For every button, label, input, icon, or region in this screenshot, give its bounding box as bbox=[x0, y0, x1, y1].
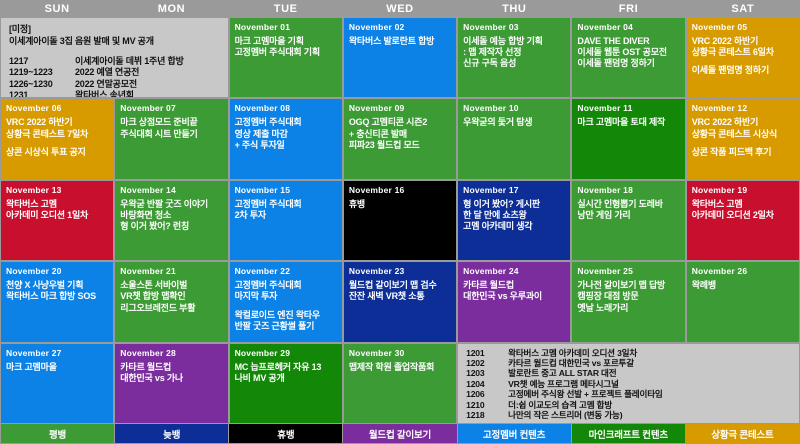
notes-row-code: 1219~1223 bbox=[9, 67, 75, 78]
upcoming-schedule-text: VR챗 예능 프로그램 메타시그널 bbox=[508, 379, 619, 389]
upcoming-schedule-code: 1201 bbox=[466, 348, 508, 358]
day-event-list: 카타르 월드컵대한민국 vs 우루과이 bbox=[463, 280, 566, 302]
day-date-label: November 17 bbox=[463, 185, 566, 195]
day-date-label: November 16 bbox=[349, 185, 452, 195]
weekday-label-sun: SUN bbox=[0, 0, 114, 18]
day-event-line: 아카데미 오디션 1일차 bbox=[6, 210, 109, 221]
day-date-label: November 28 bbox=[120, 348, 223, 358]
day-event-line: OGQ 고멤티콘 시즌2 bbox=[349, 117, 452, 128]
notes-subtitle: 이세계아이돌 3집 음원 발매 및 MV 공개 bbox=[9, 36, 220, 48]
day-event-line: 이세돌 예능 합방 기획 bbox=[463, 36, 566, 47]
day-event-line: 상황극 콘테스트 시상식 bbox=[692, 129, 795, 140]
calendar-day-cell[interactable]: November 07마크 상점모드 준비끝주식대회 시트 만들기 bbox=[115, 99, 227, 178]
day-event-list: OGQ 고멤티콘 시즌2+ 충신티콘 발매피파23 월드컵 모드 bbox=[349, 117, 452, 151]
category-legend-item[interactable]: 늦뱅 bbox=[115, 424, 228, 443]
day-event-line: 고정멤버 주식대회 bbox=[235, 280, 338, 291]
calendar-weeks: [미정]이세계아이돌 3집 음원 발매 및 MV 공개1217이세계아이돌 데뷔… bbox=[0, 18, 800, 424]
day-event-list: 카타르 월드컵대한민국 vs 가나 bbox=[120, 362, 223, 384]
category-legend-item[interactable]: 고정멤버 컨텐츠 bbox=[458, 424, 571, 443]
day-event-line: 이세돌 웹툰 OST 공모전 bbox=[577, 47, 680, 58]
weekday-label-wed: WED bbox=[343, 0, 457, 18]
day-event-list: 우왁굳 반팔 굿즈 이야기바탕화면 청소형 이거 봤어? 런칭 bbox=[120, 199, 223, 233]
day-event-line: 마지막 투자 bbox=[235, 291, 338, 302]
notes-row: 1226~12302022 연말공모전 bbox=[9, 79, 220, 90]
day-event-list: 고정멤버 주식대회영상 제출 마감+ 주식 투자일 bbox=[235, 117, 338, 151]
weekday-header-row: SUNMONTUEWEDTHUFRISAT bbox=[0, 0, 800, 18]
day-event-line: 마크 고멤마을 bbox=[6, 362, 109, 373]
day-date-label: November 26 bbox=[692, 266, 795, 276]
day-date-label: November 03 bbox=[463, 22, 566, 32]
day-event-line: 상콘 시상식 투표 공지 bbox=[6, 147, 109, 158]
upcoming-schedule-row: 1201왁타버스 고멤 아카데미 오디션 3일차 bbox=[466, 348, 793, 358]
calendar-week-row: [미정]이세계아이돌 3집 음원 발매 및 MV 공개1217이세계아이돌 데뷔… bbox=[1, 18, 799, 97]
day-event-line: VRC 2022 하반기 bbox=[6, 117, 109, 128]
day-event-line: 영상 제출 마감 bbox=[235, 129, 338, 140]
day-event-line: 상황극 콘테스트 7일차 bbox=[6, 129, 109, 140]
day-event-line: 왁컬로이드 엔진 왁타우 bbox=[235, 310, 338, 321]
calendar-day-cell[interactable]: November 02왁타버스 발로란트 합방 bbox=[344, 18, 456, 97]
day-date-label: November 21 bbox=[120, 266, 223, 276]
day-date-label: November 09 bbox=[349, 103, 452, 113]
day-event-list: 마크 상점모드 준비끝주식대회 시트 만들기 bbox=[120, 117, 223, 139]
day-date-label: November 04 bbox=[577, 22, 680, 32]
day-event-line: 대한민국 vs 우루과이 bbox=[463, 291, 566, 302]
day-event-list: 가나전 같이보기 맵 답방캠핑장 대점 방문옛날 노래가리 bbox=[577, 280, 680, 314]
day-event-line: 휴뱅 bbox=[349, 199, 452, 210]
day-date-label: November 14 bbox=[120, 185, 223, 195]
notes-row-text: 2022 예열 연공전 bbox=[75, 67, 139, 78]
day-event-line: 왁타버스 고멤 bbox=[6, 199, 109, 210]
day-event-line: 2차 투자 bbox=[235, 210, 338, 221]
day-event-line: 아카데미 오디션 2일차 bbox=[692, 210, 795, 221]
day-event-list: 월드컵 같이보기 맵 검수잔잔 새벽 VR챗 소통 bbox=[349, 280, 452, 302]
day-date-label: November 30 bbox=[349, 348, 452, 358]
calendar-week-row: November 27마크 고멤마을November 28카타르 월드컵대한민국… bbox=[1, 344, 799, 423]
category-legend-item[interactable]: 마인크래프트 컨텐츠 bbox=[572, 424, 685, 443]
calendar-day-cell[interactable]: November 12VRC 2022 하반기상황극 콘테스트 시상식상콘 작품… bbox=[687, 99, 799, 178]
upcoming-schedule-text: 발로란트 중고 ALL STAR 대전 bbox=[508, 368, 616, 378]
weekday-label-thu: THU bbox=[457, 0, 571, 18]
day-event-line: + 충신티콘 발매 bbox=[349, 129, 452, 140]
day-event-line: 피파23 월드컵 모드 bbox=[349, 140, 452, 151]
calendar-day-cell[interactable]: November 21소울스톤 서바이벌VR챗 합방 맵확인리그오브레전드 부활 bbox=[115, 262, 227, 341]
day-date-label: November 02 bbox=[349, 22, 452, 32]
day-event-line: 왁례뱅 bbox=[692, 280, 795, 291]
day-event-line: 실시간 인형뽑기 도레바 bbox=[577, 199, 680, 210]
day-date-label: November 06 bbox=[6, 103, 109, 113]
day-event-list: 고정멤버 주식대회마지막 투자왁컬로이드 엔진 왁타우반팔 굿즈 근황썰 풀기 bbox=[235, 280, 338, 332]
day-date-label: November 19 bbox=[692, 185, 795, 195]
day-event-list: 마크 고멤마을 bbox=[6, 362, 109, 373]
day-date-label: November 07 bbox=[120, 103, 223, 113]
upcoming-schedule-row: 1210더:쉽 이교도의 습격 고멤 합방 bbox=[466, 400, 793, 410]
calendar-day-cell[interactable]: November 10우왁굳의 둧거 탐생 bbox=[458, 99, 570, 178]
day-event-list: 마크 고멤마을 기획고정멤버 주식대회 기획 bbox=[235, 36, 338, 58]
day-event-line: 대한민국 vs 가나 bbox=[120, 373, 223, 384]
day-event-list: 왁타버스 고멤아카데미 오디션 1일차 bbox=[6, 199, 109, 221]
day-event-line: 카타르 월드컵 bbox=[120, 362, 223, 373]
calendar-day-cell[interactable]: November 13왁타버스 고멤아카데미 오디션 1일차 bbox=[1, 181, 113, 260]
day-event-list: 형 이거 봤어? 게시판한 달 만에 쇼츠왕고멤 아카데미 생각 bbox=[463, 199, 566, 233]
calendar-day-cell[interactable]: November 01마크 고멤마을 기획고정멤버 주식대회 기획 bbox=[230, 18, 342, 97]
calendar-day-cell[interactable]: November 25가나전 같이보기 맵 답방캠핑장 대점 방문옛날 노래가리 bbox=[572, 262, 684, 341]
day-event-list: VRC 2022 하반기상황극 콘테스트 7일차상콘 시상식 투표 공지 bbox=[6, 117, 109, 158]
day-date-label: November 20 bbox=[6, 266, 109, 276]
day-event-line: + 주식 투자일 bbox=[235, 140, 338, 151]
category-legend-item[interactable]: 휴뱅 bbox=[229, 424, 342, 443]
notes-row-code: 1217 bbox=[9, 56, 75, 67]
notes-row-text: 2022 연말공모전 bbox=[75, 79, 137, 90]
day-event-line: 우왁굳 반팔 굿즈 이야기 bbox=[120, 199, 223, 210]
upcoming-schedule-text: 더:쉽 이교도의 습격 고멤 합방 bbox=[508, 400, 612, 410]
notes-title: [미정] bbox=[9, 24, 220, 36]
day-event-line: 가나전 같이보기 맵 답방 bbox=[577, 280, 680, 291]
day-event-list: DAVE THE DIVER이세돌 웹툰 OST 공모전이세돌 팬덤명 정하기 bbox=[577, 36, 680, 70]
calendar-day-cell[interactable]: November 26왁례뱅 bbox=[687, 262, 799, 341]
upcoming-schedule-code: 1204 bbox=[466, 379, 508, 389]
day-event-line: DAVE THE DIVER bbox=[577, 36, 680, 47]
weekday-label-tue: TUE bbox=[229, 0, 343, 18]
calendar-day-cell[interactable]: November 15고정멤버 주식대회2차 투자 bbox=[230, 181, 342, 260]
notes-row-text: 이세계아이돌 데뷔 1주년 합방 bbox=[75, 56, 184, 67]
notes-row-text: 왁타버스 송년회 bbox=[75, 90, 134, 97]
category-legend-item[interactable]: 월드컵 같이보기 bbox=[343, 424, 456, 443]
day-event-list: 왁타버스 고멤아카데미 오디션 2일차 bbox=[692, 199, 795, 221]
day-event-list: 우왁굳의 둧거 탐생 bbox=[463, 117, 566, 128]
upcoming-schedule-code: 1202 bbox=[466, 358, 508, 368]
day-event-line: VR챗 합방 맵확인 bbox=[120, 291, 223, 302]
upcoming-schedule-row: 1203발로란트 중고 ALL STAR 대전 bbox=[466, 368, 793, 378]
calendar-day-cell[interactable]: November 09OGQ 고멤티콘 시즌2+ 충신티콘 발매피파23 월드컵… bbox=[344, 99, 456, 178]
notes-row-code: 1231 bbox=[9, 90, 75, 97]
day-event-list: 고정멤버 주식대회2차 투자 bbox=[235, 199, 338, 221]
upcoming-schedule-panel: 1201왁타버스 고멤 아카데미 오디션 3일차1202카타르 월드컵 대한민국… bbox=[458, 344, 799, 423]
calendar-week-row: November 20천양 X 사냥우벌 기획왁타버스 마크 합방 SOSNov… bbox=[1, 262, 799, 341]
day-date-label: November 22 bbox=[235, 266, 338, 276]
calendar-day-cell[interactable]: November 14우왁굳 반팔 굿즈 이야기바탕화면 청소형 이거 봤어? … bbox=[115, 181, 227, 260]
calendar-day-cell[interactable]: November 23월드컵 같이보기 맵 검수잔잔 새벽 VR챗 소통 bbox=[344, 262, 456, 341]
day-event-list: 소울스톤 서바이벌VR챗 합방 맵확인리그오브레전드 부활 bbox=[120, 280, 223, 314]
day-event-line: 상황극 콘테스트 6일차 bbox=[692, 47, 795, 58]
day-event-line: 바탕화면 청소 bbox=[120, 210, 223, 221]
upcoming-schedule-row: 1204VR챗 예능 프로그램 메타시그널 bbox=[466, 379, 793, 389]
day-date-label: November 05 bbox=[692, 22, 795, 32]
calendar-day-cell[interactable]: November 28카타르 월드컵대한민국 vs 가나 bbox=[115, 344, 227, 423]
day-event-list: 천양 X 사냥우벌 기획왁타버스 마크 합방 SOS bbox=[6, 280, 109, 302]
day-event-line: 왁타버스 마크 합방 SOS bbox=[6, 291, 109, 302]
day-event-list: VRC 2022 하반기상황극 콘테스트 시상식상콘 작품 피드백 후기 bbox=[692, 117, 795, 158]
calendar-day-cell[interactable]: November 20천양 X 사냥우벌 기획왁타버스 마크 합방 SOS bbox=[1, 262, 113, 341]
calendar-day-cell[interactable]: November 30맵제작 학원 졸업작품회 bbox=[344, 344, 456, 423]
calendar-day-cell[interactable]: November 04DAVE THE DIVER이세돌 웹툰 OST 공모전이… bbox=[572, 18, 684, 97]
day-event-list: 왁례뱅 bbox=[692, 280, 795, 291]
upcoming-schedule-code: 1203 bbox=[466, 368, 508, 378]
day-date-label: November 25 bbox=[577, 266, 680, 276]
calendar-week-row: November 13왁타버스 고멤아카데미 오디션 1일차November 1… bbox=[1, 181, 799, 260]
day-event-list: 마크 고멤마을 토대 제작 bbox=[577, 117, 680, 128]
day-event-line: VRC 2022 하반기 bbox=[692, 36, 795, 47]
day-event-line: 고정멤버 주식대회 bbox=[235, 117, 338, 128]
day-event-line: 신규 구독 음성 bbox=[463, 58, 566, 69]
day-event-list: MC 늡프로헤커 자유 13나비 MV 공개 bbox=[235, 362, 338, 384]
day-date-label: November 12 bbox=[692, 103, 795, 113]
day-event-line: 낭만 게임 가리 bbox=[577, 210, 680, 221]
day-event-line: 캠핑장 대점 방문 bbox=[577, 291, 680, 302]
day-date-label: November 01 bbox=[235, 22, 338, 32]
day-event-line: 고멤 아카데미 생각 bbox=[463, 221, 566, 232]
category-legend-item[interactable]: 상황극 콘테스트 bbox=[686, 424, 799, 443]
upcoming-schedule-code: 1218 bbox=[466, 410, 508, 420]
day-event-line: 카타르 월드컵 bbox=[463, 280, 566, 291]
day-date-label: November 13 bbox=[6, 185, 109, 195]
day-event-line: 왁타버스 발로란트 합방 bbox=[349, 36, 452, 47]
monthly-schedule-calendar: SUNMONTUEWEDTHUFRISAT [미정]이세계아이돌 3집 음원 발… bbox=[0, 0, 800, 444]
day-date-label: November 10 bbox=[463, 103, 566, 113]
day-date-label: November 23 bbox=[349, 266, 452, 276]
day-event-line: 형 이거 봤어? 게시판 bbox=[463, 199, 566, 210]
calendar-day-cell[interactable]: November 29MC 늡프로헤커 자유 13나비 MV 공개 bbox=[230, 344, 342, 423]
notes-row: 1217이세계아이돌 데뷔 1주년 합방 bbox=[9, 56, 220, 67]
day-event-line: 이세돌 팬덤명 정하기 bbox=[577, 58, 680, 69]
category-legend-bar: 평뱅늦뱅휴뱅월드컵 같이보기고정멤버 컨텐츠마인크래프트 컨텐츠상황극 콘테스트 bbox=[0, 424, 800, 444]
day-date-label: November 11 bbox=[577, 103, 680, 113]
day-date-label: November 27 bbox=[6, 348, 109, 358]
calendar-day-cell[interactable]: November 19왁타버스 고멤아카데미 오디션 2일차 bbox=[687, 181, 799, 260]
calendar-day-cell[interactable]: November 03이세돌 예능 합방 기획: 맵 제작자 선정신규 구독 음… bbox=[458, 18, 570, 97]
day-event-list: 왁타버스 발로란트 합방 bbox=[349, 36, 452, 47]
upcoming-schedule-text: 고정메버 주식왕 선발 + 프로젝트 플레이타임 bbox=[508, 389, 662, 399]
day-event-line: MC 늡프로헤커 자유 13 bbox=[235, 362, 338, 373]
calendar-day-cell[interactable]: November 18실시간 인형뽑기 도레바낭만 게임 가리 bbox=[572, 181, 684, 260]
day-date-label: November 08 bbox=[235, 103, 338, 113]
calendar-day-cell[interactable]: November 06VRC 2022 하반기상황극 콘테스트 7일차상콘 시상… bbox=[1, 99, 113, 178]
day-date-label: November 18 bbox=[577, 185, 680, 195]
category-legend-item[interactable]: 평뱅 bbox=[1, 424, 114, 443]
day-event-list: 휴뱅 bbox=[349, 199, 452, 210]
day-event-line: 반팔 굿즈 근황썰 풀기 bbox=[235, 321, 338, 332]
upcoming-schedule-text: 카타르 월드컵 대한민국 vs 포르투갈 bbox=[508, 358, 634, 368]
day-event-list: 맵제작 학원 졸업작품회 bbox=[349, 362, 452, 373]
day-event-line: 월드컵 같이보기 맵 검수 bbox=[349, 280, 452, 291]
day-event-line: 나비 MV 공개 bbox=[235, 373, 338, 384]
day-event-line: 천양 X 사냥우벌 기획 bbox=[6, 280, 109, 291]
calendar-day-cell[interactable]: November 27마크 고멤마을 bbox=[1, 344, 113, 423]
notes-schedule-table: 1217이세계아이돌 데뷔 1주년 합방1219~12232022 예열 연공전… bbox=[9, 56, 220, 97]
day-event-line: 이세돌 팬덤명 정하기 bbox=[692, 65, 795, 76]
day-event-line: 왁타버스 고멤 bbox=[692, 199, 795, 210]
notes-row: 1231왁타버스 송년회 bbox=[9, 90, 220, 97]
day-event-line: 한 달 만에 쇼츠왕 bbox=[463, 210, 566, 221]
day-date-label: November 24 bbox=[463, 266, 566, 276]
pending-notes-panel: [미정]이세계아이돌 3집 음원 발매 및 MV 공개1217이세계아이돌 데뷔… bbox=[1, 18, 228, 97]
upcoming-schedule-row: 1202카타르 월드컵 대한민국 vs 포르투갈 bbox=[466, 358, 793, 368]
notes-row-code: 1226~1230 bbox=[9, 79, 75, 90]
calendar-day-cell[interactable]: November 16휴뱅 bbox=[344, 181, 456, 260]
day-event-line: VRC 2022 하반기 bbox=[692, 117, 795, 128]
calendar-day-cell[interactable]: November 24카타르 월드컵대한민국 vs 우루과이 bbox=[458, 262, 570, 341]
day-event-line: 옛날 노래가리 bbox=[577, 303, 680, 314]
day-event-line: 소울스톤 서바이벌 bbox=[120, 280, 223, 291]
notes-row: 1219~12232022 예열 연공전 bbox=[9, 67, 220, 78]
day-event-line: 우왁굳의 둧거 탐생 bbox=[463, 117, 566, 128]
day-event-line: 리그오브레전드 부활 bbox=[120, 303, 223, 314]
upcoming-schedule-row: 1206고정메버 주식왕 선발 + 프로젝트 플레이타임 bbox=[466, 389, 793, 399]
day-date-label: November 15 bbox=[235, 185, 338, 195]
day-event-line: 마크 상점모드 준비끝 bbox=[120, 117, 223, 128]
upcoming-schedule-text: 나만의 작은 스트리머 (변동 가능) bbox=[508, 410, 622, 420]
day-event-list: 이세돌 예능 합방 기획: 맵 제작자 선정신규 구독 음성 bbox=[463, 36, 566, 70]
day-event-line: 고정멤버 주식대회 기획 bbox=[235, 47, 338, 58]
weekday-label-fri: FRI bbox=[571, 0, 685, 18]
upcoming-schedule-row: 1218나만의 작은 스트리머 (변동 가능) bbox=[466, 410, 793, 420]
calendar-week-row: November 06VRC 2022 하반기상황극 콘테스트 7일차상콘 시상… bbox=[1, 99, 799, 178]
calendar-day-cell[interactable]: November 22고정멤버 주식대회마지막 투자왁컬로이드 엔진 왁타우반팔… bbox=[230, 262, 342, 341]
day-event-line: 상콘 작품 피드백 후기 bbox=[692, 147, 795, 158]
calendar-day-cell[interactable]: November 11마크 고멤마을 토대 제작 bbox=[572, 99, 684, 178]
day-date-label: November 29 bbox=[235, 348, 338, 358]
calendar-day-cell[interactable]: November 05VRC 2022 하반기상황극 콘테스트 6일차이세돌 팬… bbox=[687, 18, 799, 97]
day-event-line: 주식대회 시트 만들기 bbox=[120, 129, 223, 140]
day-event-list: 실시간 인형뽑기 도레바낭만 게임 가리 bbox=[577, 199, 680, 221]
weekday-label-mon: MON bbox=[114, 0, 228, 18]
day-event-line: 마크 고멤마을 토대 제작 bbox=[577, 117, 680, 128]
day-event-line: 마크 고멤마을 기획 bbox=[235, 36, 338, 47]
upcoming-schedule-text: 왁타버스 고멤 아카데미 오디션 3일차 bbox=[508, 348, 637, 358]
day-event-line: 잔잔 새벽 VR챗 소통 bbox=[349, 291, 452, 302]
day-event-list: VRC 2022 하반기상황극 콘테스트 6일차이세돌 팬덤명 정하기 bbox=[692, 36, 795, 77]
upcoming-schedule-code: 1210 bbox=[466, 400, 508, 410]
day-event-line: 맵제작 학원 졸업작품회 bbox=[349, 362, 452, 373]
calendar-day-cell[interactable]: November 17형 이거 봤어? 게시판한 달 만에 쇼츠왕고멤 아카데미… bbox=[458, 181, 570, 260]
calendar-day-cell[interactable]: November 08고정멤버 주식대회영상 제출 마감+ 주식 투자일 bbox=[230, 99, 342, 178]
upcoming-schedule-code: 1206 bbox=[466, 389, 508, 399]
day-event-line: 형 이거 봤어? 런칭 bbox=[120, 221, 223, 232]
weekday-label-sat: SAT bbox=[686, 0, 800, 18]
day-event-line: : 맵 제작자 선정 bbox=[463, 47, 566, 58]
day-event-line: 고정멤버 주식대회 bbox=[235, 199, 338, 210]
